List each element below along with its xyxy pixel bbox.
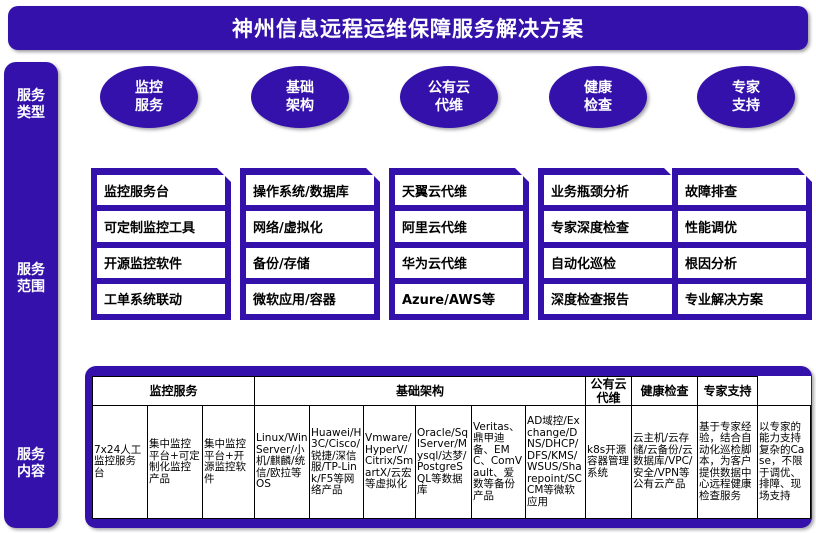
sidebar-item-service-scope-line2: 范围 — [4, 279, 58, 296]
scope-item[interactable]: 可定制监控工具 — [96, 210, 226, 242]
category-ellipse-health-check-line1: 健康 — [584, 79, 612, 97]
table-cell: Huawei/H3C/Cisco/锐捷/深信服/TP-Link/F5等网络产品 — [310, 406, 364, 519]
table-cell: k8s开源容器管理系统 — [586, 406, 632, 519]
sidebar-item-service-type-line2: 类型 — [4, 105, 58, 122]
scope-box-infrastructure: 操作系统/数据库 网络/虚拟化 备份/存储 微软应用/容器 — [240, 168, 380, 320]
scope-item[interactable]: 华为云代维 — [394, 247, 524, 279]
table-cell: AD域控/Exchange/DNS/DHCP/DFS/KMS/WSUS/Shar… — [526, 406, 586, 519]
category-ellipse-expert-support-line1: 专家 — [732, 79, 760, 97]
table-cell: 云主机/云存储/云备份/云数据库/VPC/安全/VPN等公有云产品 — [632, 406, 698, 519]
scope-item[interactable]: 操作系统/数据库 — [245, 174, 375, 206]
table-group-header: 专家支持 — [698, 377, 758, 406]
scope-box-expert-support: 故障排查 性能调优 根因分析 专业解决方案 — [672, 168, 812, 320]
table-cell: 基于专家经验，结合自动化巡检脚本，为客户提供数据中心远程健康检查服务 — [698, 406, 758, 519]
scope-item[interactable]: 微软应用/容器 — [245, 283, 375, 315]
category-ellipse-health-check[interactable]: 健康 检查 — [549, 66, 647, 128]
scope-box-monitoring: 监控服务台 可定制监控工具 开源监控软件 工单系统联动 — [91, 168, 231, 320]
table-cell: 7x24人工监控服务台 — [93, 406, 148, 519]
scope-box-public-cloud: 天翼云代维 阿里云代维 华为云代维 Azure/AWS等 — [389, 168, 529, 320]
scope-item[interactable]: 监控服务台 — [96, 174, 226, 206]
scope-item[interactable]: 专业解决方案 — [677, 283, 807, 315]
table-cell: Oracle/SqlServer/Mysql/达梦/PostgreSQL等数据库 — [416, 406, 472, 519]
sidebar-item-service-type: 服务 类型 — [4, 88, 58, 122]
scope-box-health-check: 业务瓶颈分析 专家深度检查 自动化巡检 深度检查报告 — [538, 168, 678, 320]
table-cell: 以专家的能力支持复杂的Case，不限于调优、排障、现场支持 — [758, 406, 811, 519]
scope-item[interactable]: 根因分析 — [677, 247, 807, 279]
scope-item[interactable]: 专家深度检查 — [543, 210, 673, 242]
category-ellipse-public-cloud-line2: 代维 — [428, 97, 470, 115]
scope-item[interactable]: 性能调优 — [677, 210, 807, 242]
scope-item[interactable]: 深度检查报告 — [543, 283, 673, 315]
category-ellipse-public-cloud-line1: 公有云 — [428, 79, 470, 97]
sidebar-item-service-scope-line1: 服务 — [4, 262, 58, 279]
sidebar-item-service-content-line1: 服务 — [4, 447, 58, 464]
scope-item[interactable]: 工单系统联动 — [96, 283, 226, 315]
table-header-row: 监控服务基础架构公有云代维健康检查专家支持 — [93, 377, 811, 406]
scope-item[interactable]: 业务瓶颈分析 — [543, 174, 673, 206]
scope-item[interactable]: 自动化巡检 — [543, 247, 673, 279]
sidebar: 服务 类型 服务 范围 服务 内容 — [4, 62, 58, 528]
title-banner: 神州信息远程运维保障服务解决方案 — [8, 6, 808, 50]
category-ellipse-public-cloud[interactable]: 公有云 代维 — [400, 66, 498, 128]
scope-item[interactable]: Azure/AWS等 — [394, 283, 524, 315]
scope-item[interactable]: 备份/存储 — [245, 247, 375, 279]
scope-item[interactable]: 网络/虚拟化 — [245, 210, 375, 242]
scope-item[interactable]: 阿里云代维 — [394, 210, 524, 242]
table-group-header: 健康检查 — [632, 377, 698, 406]
category-ellipse-health-check-line2: 检查 — [584, 97, 612, 115]
table-group-header: 基础架构 — [255, 377, 586, 406]
table-row: 7x24人工监控服务台集中监控平台+可定制化监控产品集中监控平台+开源监控软件L… — [93, 406, 811, 519]
service-content-panel: 监控服务基础架构公有云代维健康检查专家支持 7x24人工监控服务台集中监控平台+… — [85, 366, 812, 528]
scope-item[interactable]: 开源监控软件 — [96, 247, 226, 279]
category-ellipse-infrastructure-line1: 基础 — [286, 79, 314, 97]
table-cell: Vmware/HyperV/Citrix/SmartX/云宏等虚拟化 — [364, 406, 416, 519]
sidebar-item-service-scope: 服务 范围 — [4, 262, 58, 296]
table-cell: Veritas、鼎甲迪备、EMC、ComVault、爱数等备份产品 — [472, 406, 526, 519]
sidebar-item-service-type-line1: 服务 — [4, 88, 58, 105]
table-group-header: 公有云代维 — [586, 377, 632, 406]
category-ellipse-expert-support-line2: 支持 — [732, 97, 760, 115]
scope-item[interactable]: 天翼云代维 — [394, 174, 524, 206]
sidebar-item-service-content: 服务 内容 — [4, 447, 58, 481]
category-ellipse-expert-support[interactable]: 专家 支持 — [697, 66, 795, 128]
category-ellipse-monitoring[interactable]: 监控 服务 — [100, 66, 198, 128]
service-content-table: 监控服务基础架构公有云代维健康检查专家支持 7x24人工监控服务台集中监控平台+… — [92, 376, 811, 519]
category-ellipse-infrastructure-line2: 架构 — [286, 97, 314, 115]
category-ellipse-monitoring-line1: 监控 — [135, 79, 163, 97]
table-group-header: 监控服务 — [93, 377, 255, 406]
scope-item[interactable]: 故障排查 — [677, 174, 807, 206]
sidebar-item-service-content-line2: 内容 — [4, 464, 58, 481]
table-cell: 集中监控平台+开源监控软件 — [203, 406, 255, 519]
table-cell: Linux/Win Server/小机/麒麟/统信/欧拉等OS — [255, 406, 310, 519]
table-cell: 集中监控平台+可定制化监控产品 — [148, 406, 203, 519]
category-ellipse-monitoring-line2: 服务 — [135, 97, 163, 115]
category-ellipse-infrastructure[interactable]: 基础 架构 — [251, 66, 349, 128]
slide-root: 神州信息远程运维保障服务解决方案 服务 类型 服务 范围 服务 内容 监控 服务… — [0, 0, 816, 533]
page-title: 神州信息远程运维保障服务解决方案 — [232, 13, 584, 43]
